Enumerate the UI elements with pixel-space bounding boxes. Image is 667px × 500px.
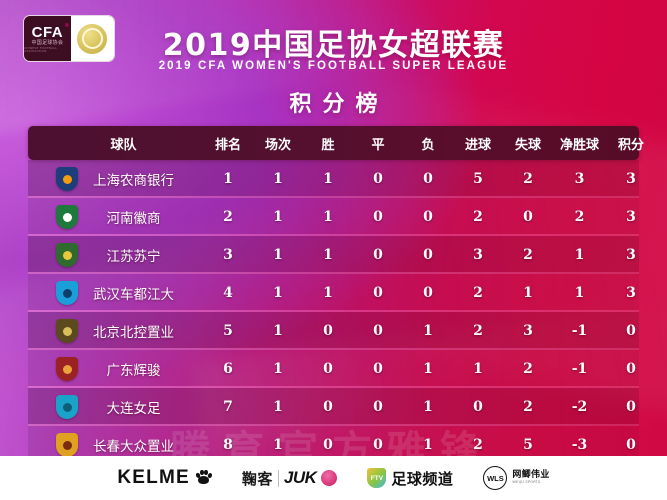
cell-goals-against: 1 (503, 285, 553, 301)
team-name: 江苏苏宁 (78, 245, 203, 265)
team-badge-icon (56, 319, 78, 343)
page-title: 2019中国足协女超联赛 (0, 20, 667, 64)
cell-team: 北京北控置业 (28, 319, 203, 343)
wls-circle-icon: WLS (483, 466, 507, 490)
cell-win: 0 (303, 323, 353, 339)
team-name: 广东辉骏 (78, 359, 203, 379)
cell-win: 0 (303, 437, 353, 453)
column-header-goals-against: 失球 (503, 134, 553, 153)
cell-played: 1 (253, 437, 303, 453)
sponsor-wls-name: 网鲫伟业 (512, 471, 549, 480)
column-header-played: 场次 (253, 134, 303, 153)
cell-draw: 0 (353, 209, 403, 225)
cell-team: 河南徽商 (28, 205, 203, 229)
table-body: 上海农商银行111005233河南徽商211002023江苏苏宁31100321… (28, 160, 639, 464)
cell-goal-difference: -1 (553, 323, 606, 339)
standings-table: 球队 排名 场次 胜 平 负 进球 失球 净胜球 积分 上海农商银行111005… (28, 126, 639, 464)
team-badge-icon (56, 395, 78, 419)
team-name: 长春大众置业 (78, 435, 203, 455)
sponsor-juke-label: 鞠客 (242, 468, 273, 489)
cell-rank: 2 (203, 209, 253, 225)
cell-goal-difference: -3 (553, 437, 606, 453)
cell-draw: 0 (353, 361, 403, 377)
column-header-rank: 排名 (203, 134, 253, 153)
sponsor-kelme-label: KELME (117, 467, 190, 489)
standings-graphic: 腾育官方雅锋 CFA ® 中国足球协会 CHINESE FOOTBALL ASS… (0, 0, 667, 500)
cell-rank: 8 (203, 437, 253, 453)
sponsor-wls-label: 网鲫伟业 WEIJU SPORTS (512, 471, 549, 485)
cell-draw: 0 (353, 323, 403, 339)
team-badge-icon (56, 205, 78, 229)
cell-points: 0 (606, 323, 656, 339)
cell-loss: 1 (403, 323, 453, 339)
cell-goals-for: 2 (453, 437, 503, 453)
cell-draw: 0 (353, 247, 403, 263)
table-row[interactable]: 大连女足7100102-20 (28, 388, 639, 426)
cell-points: 3 (606, 171, 656, 187)
team-name: 上海农商银行 (78, 169, 203, 189)
cell-goal-difference: -1 (553, 361, 606, 377)
cell-points: 3 (606, 247, 656, 263)
cell-goals-for: 1 (453, 361, 503, 377)
sponsor-divider (278, 470, 279, 487)
cell-win: 1 (303, 171, 353, 187)
cell-rank: 4 (203, 285, 253, 301)
team-name: 大连女足 (78, 397, 203, 417)
cell-goals-for: 3 (453, 247, 503, 263)
cell-points: 0 (606, 437, 656, 453)
cell-points: 3 (606, 285, 656, 301)
sponsor-wls-sub: WEIJU SPORTS (512, 481, 549, 485)
column-header-goal-difference: 净胜球 (553, 134, 606, 153)
cell-goal-difference: 1 (553, 247, 606, 263)
table-row[interactable]: 广东辉骏6100112-10 (28, 350, 639, 388)
cell-team: 大连女足 (28, 395, 203, 419)
ftv-icon: FTV (367, 468, 386, 488)
cell-team: 广东辉骏 (28, 357, 203, 381)
table-row[interactable]: 武汉车都江大411002113 (28, 274, 639, 312)
team-badge-icon (56, 281, 78, 305)
sponsor-juke-latin: JUK (284, 468, 317, 488)
cell-goals-for: 2 (453, 209, 503, 225)
cell-goals-for: 2 (453, 285, 503, 301)
cell-goal-difference: -2 (553, 399, 606, 415)
cell-played: 1 (253, 399, 303, 415)
team-badge-icon (56, 433, 78, 457)
cell-win: 0 (303, 399, 353, 415)
table-row[interactable]: 北京北控置业5100123-10 (28, 312, 639, 350)
cell-goals-against: 0 (503, 209, 553, 225)
column-header-draw: 平 (353, 134, 403, 153)
cell-goals-against: 2 (503, 361, 553, 377)
cell-points: 3 (606, 209, 656, 225)
cell-draw: 0 (353, 171, 403, 187)
cell-team: 上海农商银行 (28, 167, 203, 191)
cell-rank: 7 (203, 399, 253, 415)
team-badge-icon (56, 243, 78, 267)
juke-mark-icon (321, 470, 337, 486)
cell-played: 1 (253, 323, 303, 339)
cell-points: 0 (606, 361, 656, 377)
cell-goals-against: 3 (503, 323, 553, 339)
cell-played: 1 (253, 361, 303, 377)
cell-loss: 1 (403, 399, 453, 415)
sponsor-ftv-label: 足球频道 (391, 468, 453, 489)
cell-points: 0 (606, 399, 656, 415)
table-row[interactable]: 江苏苏宁311003213 (28, 236, 639, 274)
column-header-goals-for: 进球 (453, 134, 503, 153)
cell-win: 1 (303, 285, 353, 301)
cell-team: 江苏苏宁 (28, 243, 203, 267)
cell-goals-for: 5 (453, 171, 503, 187)
cell-win: 1 (303, 247, 353, 263)
cell-loss: 1 (403, 437, 453, 453)
team-badge-icon (56, 167, 78, 191)
cell-goal-difference: 1 (553, 285, 606, 301)
cell-loss: 0 (403, 171, 453, 187)
cell-draw: 0 (353, 399, 403, 415)
cell-loss: 0 (403, 209, 453, 225)
cell-goal-difference: 2 (553, 209, 606, 225)
cell-win: 0 (303, 361, 353, 377)
team-name: 河南徽商 (78, 207, 203, 227)
cell-played: 1 (253, 209, 303, 225)
cell-played: 1 (253, 171, 303, 187)
cell-loss: 1 (403, 361, 453, 377)
sponsor-kelme[interactable]: KELME (117, 467, 212, 489)
cell-goals-against: 2 (503, 399, 553, 415)
sponsor-ftv[interactable]: FTV 足球频道 (367, 468, 453, 489)
table-row[interactable]: 河南徽商211002023 (28, 198, 639, 236)
sponsor-footer: KELME 鞠客 JUK FTV 足球频道 WLS 网鲫伟业 WEIJU SPO… (0, 456, 667, 500)
column-header-loss: 负 (403, 134, 453, 153)
sponsor-juke[interactable]: 鞠客 JUK (242, 468, 338, 489)
cell-goals-for: 2 (453, 323, 503, 339)
cell-goal-difference: 3 (553, 171, 606, 187)
cell-rank: 3 (203, 247, 253, 263)
cell-goals-against: 2 (503, 171, 553, 187)
cell-rank: 6 (203, 361, 253, 377)
cell-goals-against: 2 (503, 247, 553, 263)
table-header-row: 球队 排名 场次 胜 平 负 进球 失球 净胜球 积分 (28, 126, 639, 160)
cell-team: 武汉车都江大 (28, 281, 203, 305)
cell-loss: 0 (403, 247, 453, 263)
cell-played: 1 (253, 285, 303, 301)
cell-rank: 5 (203, 323, 253, 339)
cell-draw: 0 (353, 437, 403, 453)
cell-goals-against: 5 (503, 437, 553, 453)
page-subtitle: 积分榜 (0, 86, 667, 118)
cell-win: 1 (303, 209, 353, 225)
team-badge-icon (56, 357, 78, 381)
table-row[interactable]: 上海农商银行111005233 (28, 160, 639, 198)
paw-icon (195, 470, 212, 487)
team-name: 武汉车都江大 (78, 283, 203, 303)
cell-draw: 0 (353, 285, 403, 301)
column-header-points: 积分 (606, 134, 656, 153)
sponsor-wls[interactable]: WLS 网鲫伟业 WEIJU SPORTS (483, 466, 549, 490)
column-header-team: 球队 (28, 134, 203, 153)
cell-goals-for: 0 (453, 399, 503, 415)
cell-played: 1 (253, 247, 303, 263)
cell-team: 长春大众置业 (28, 433, 203, 457)
cell-loss: 0 (403, 285, 453, 301)
page-title-english: 2019 CFA WOMEN'S FOOTBALL SUPER LEAGUE (0, 60, 667, 72)
column-header-win: 胜 (303, 134, 353, 153)
team-name: 北京北控置业 (78, 321, 203, 341)
cell-rank: 1 (203, 171, 253, 187)
